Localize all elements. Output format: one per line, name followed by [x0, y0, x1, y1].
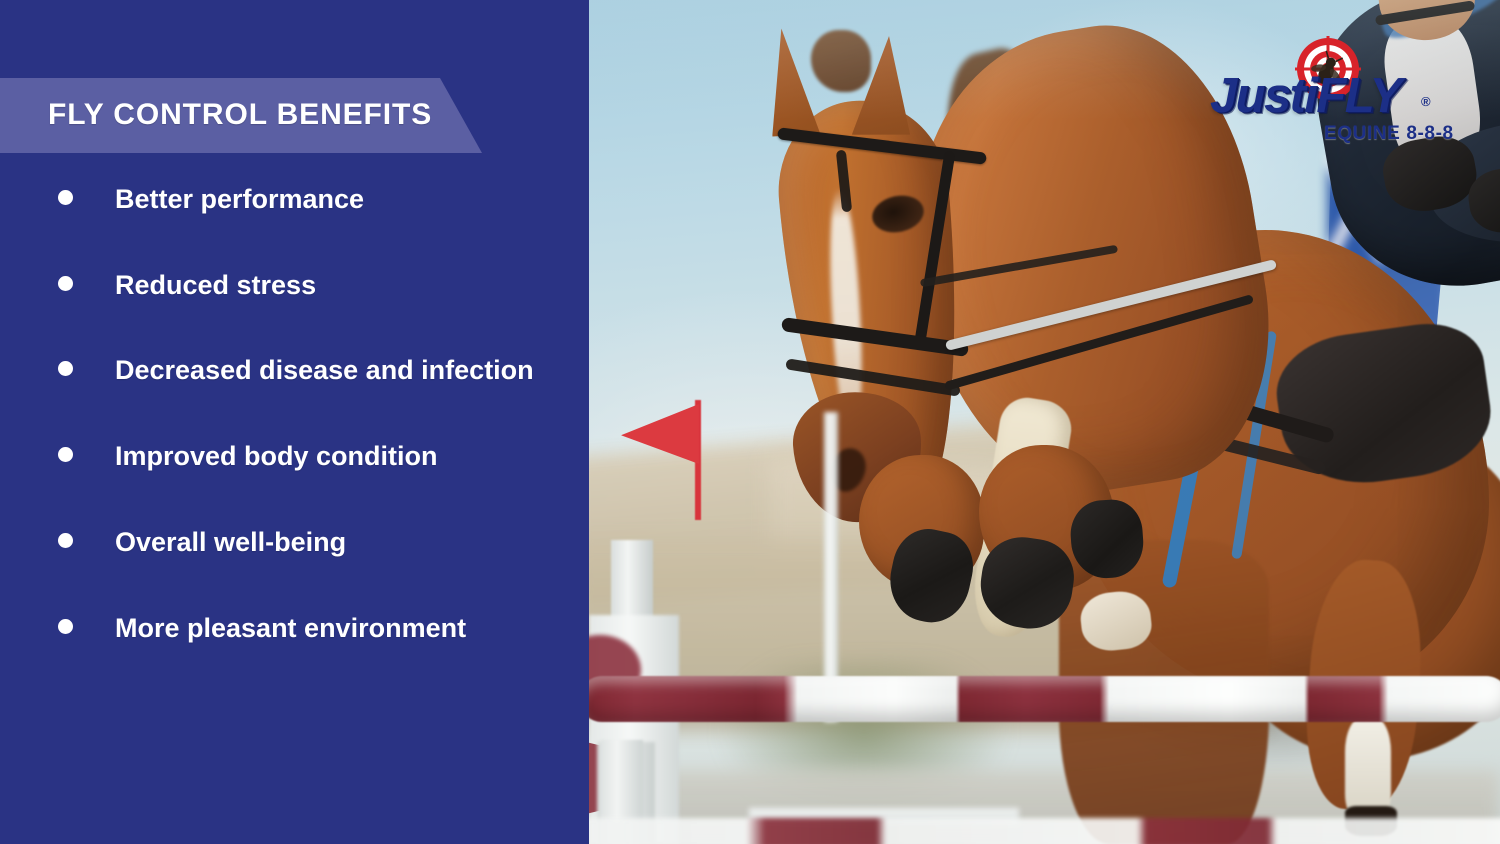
brand-logo: JustiFLY ® EQUINE 8-8-8 [1206, 40, 1494, 144]
list-item: Better performance [0, 178, 589, 222]
registered-trademark-icon: ® [1421, 94, 1431, 109]
jump-lower-rail [589, 818, 1500, 844]
benefit-label: Overall well-being [115, 521, 346, 565]
bullet-dot-icon [58, 276, 73, 291]
list-item: Decreased disease and infection [0, 349, 589, 393]
list-item: Overall well-being [0, 521, 589, 565]
logo-subtitle: EQUINE 8-8-8 [1324, 123, 1454, 145]
jump-rail [589, 676, 1500, 722]
horse-forelock [811, 30, 871, 92]
benefit-label: More pleasant environment [115, 607, 466, 651]
bullet-dot-icon [58, 190, 73, 205]
benefits-list: Better performance Reduced stress Decrea… [0, 178, 589, 692]
slide-root: FLY CONTROL BENEFITS Better performance … [0, 0, 1500, 844]
bullet-dot-icon [58, 533, 73, 548]
list-item: Reduced stress [0, 264, 589, 308]
page-title: FLY CONTROL BENEFITS [48, 98, 432, 132]
bullet-dot-icon [58, 619, 73, 634]
list-item: Improved body condition [0, 435, 589, 479]
benefit-label: Better performance [115, 178, 364, 222]
bullet-dot-icon [58, 447, 73, 462]
list-item: More pleasant environment [0, 607, 589, 651]
benefit-label: Decreased disease and infection [115, 349, 534, 393]
logo-wordmark: JustiFLY [1210, 68, 1400, 124]
benefit-label: Improved body condition [115, 435, 438, 479]
horse-hind-sock [1345, 718, 1391, 818]
benefit-label: Reduced stress [115, 264, 316, 308]
bullet-dot-icon [58, 361, 73, 376]
